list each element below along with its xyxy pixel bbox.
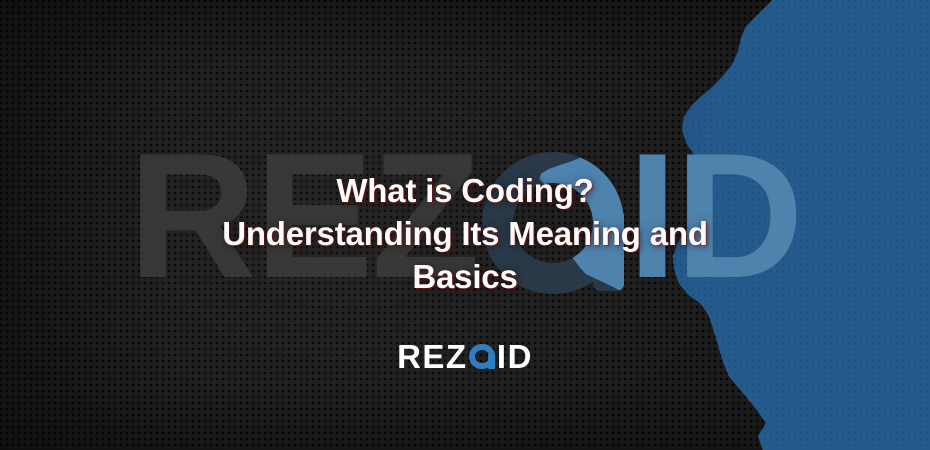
page-title-line-3: Basics — [115, 256, 815, 299]
brand-logo-text-after: ID — [497, 340, 533, 373]
page-title-line-2: Understanding Its Meaning and — [115, 213, 815, 256]
page-title-line-1: What is Coding? — [115, 170, 815, 213]
rezaid-circle-mark-icon — [469, 344, 495, 370]
brand-logo[interactable]: REZ ID — [397, 340, 533, 373]
blog-hero-banner: REZID REZID What is Coding? Understandin… — [0, 0, 930, 450]
page-title: What is Coding? Understanding Its Meanin… — [115, 170, 815, 299]
brand-logo-text-before: REZ — [397, 340, 468, 373]
